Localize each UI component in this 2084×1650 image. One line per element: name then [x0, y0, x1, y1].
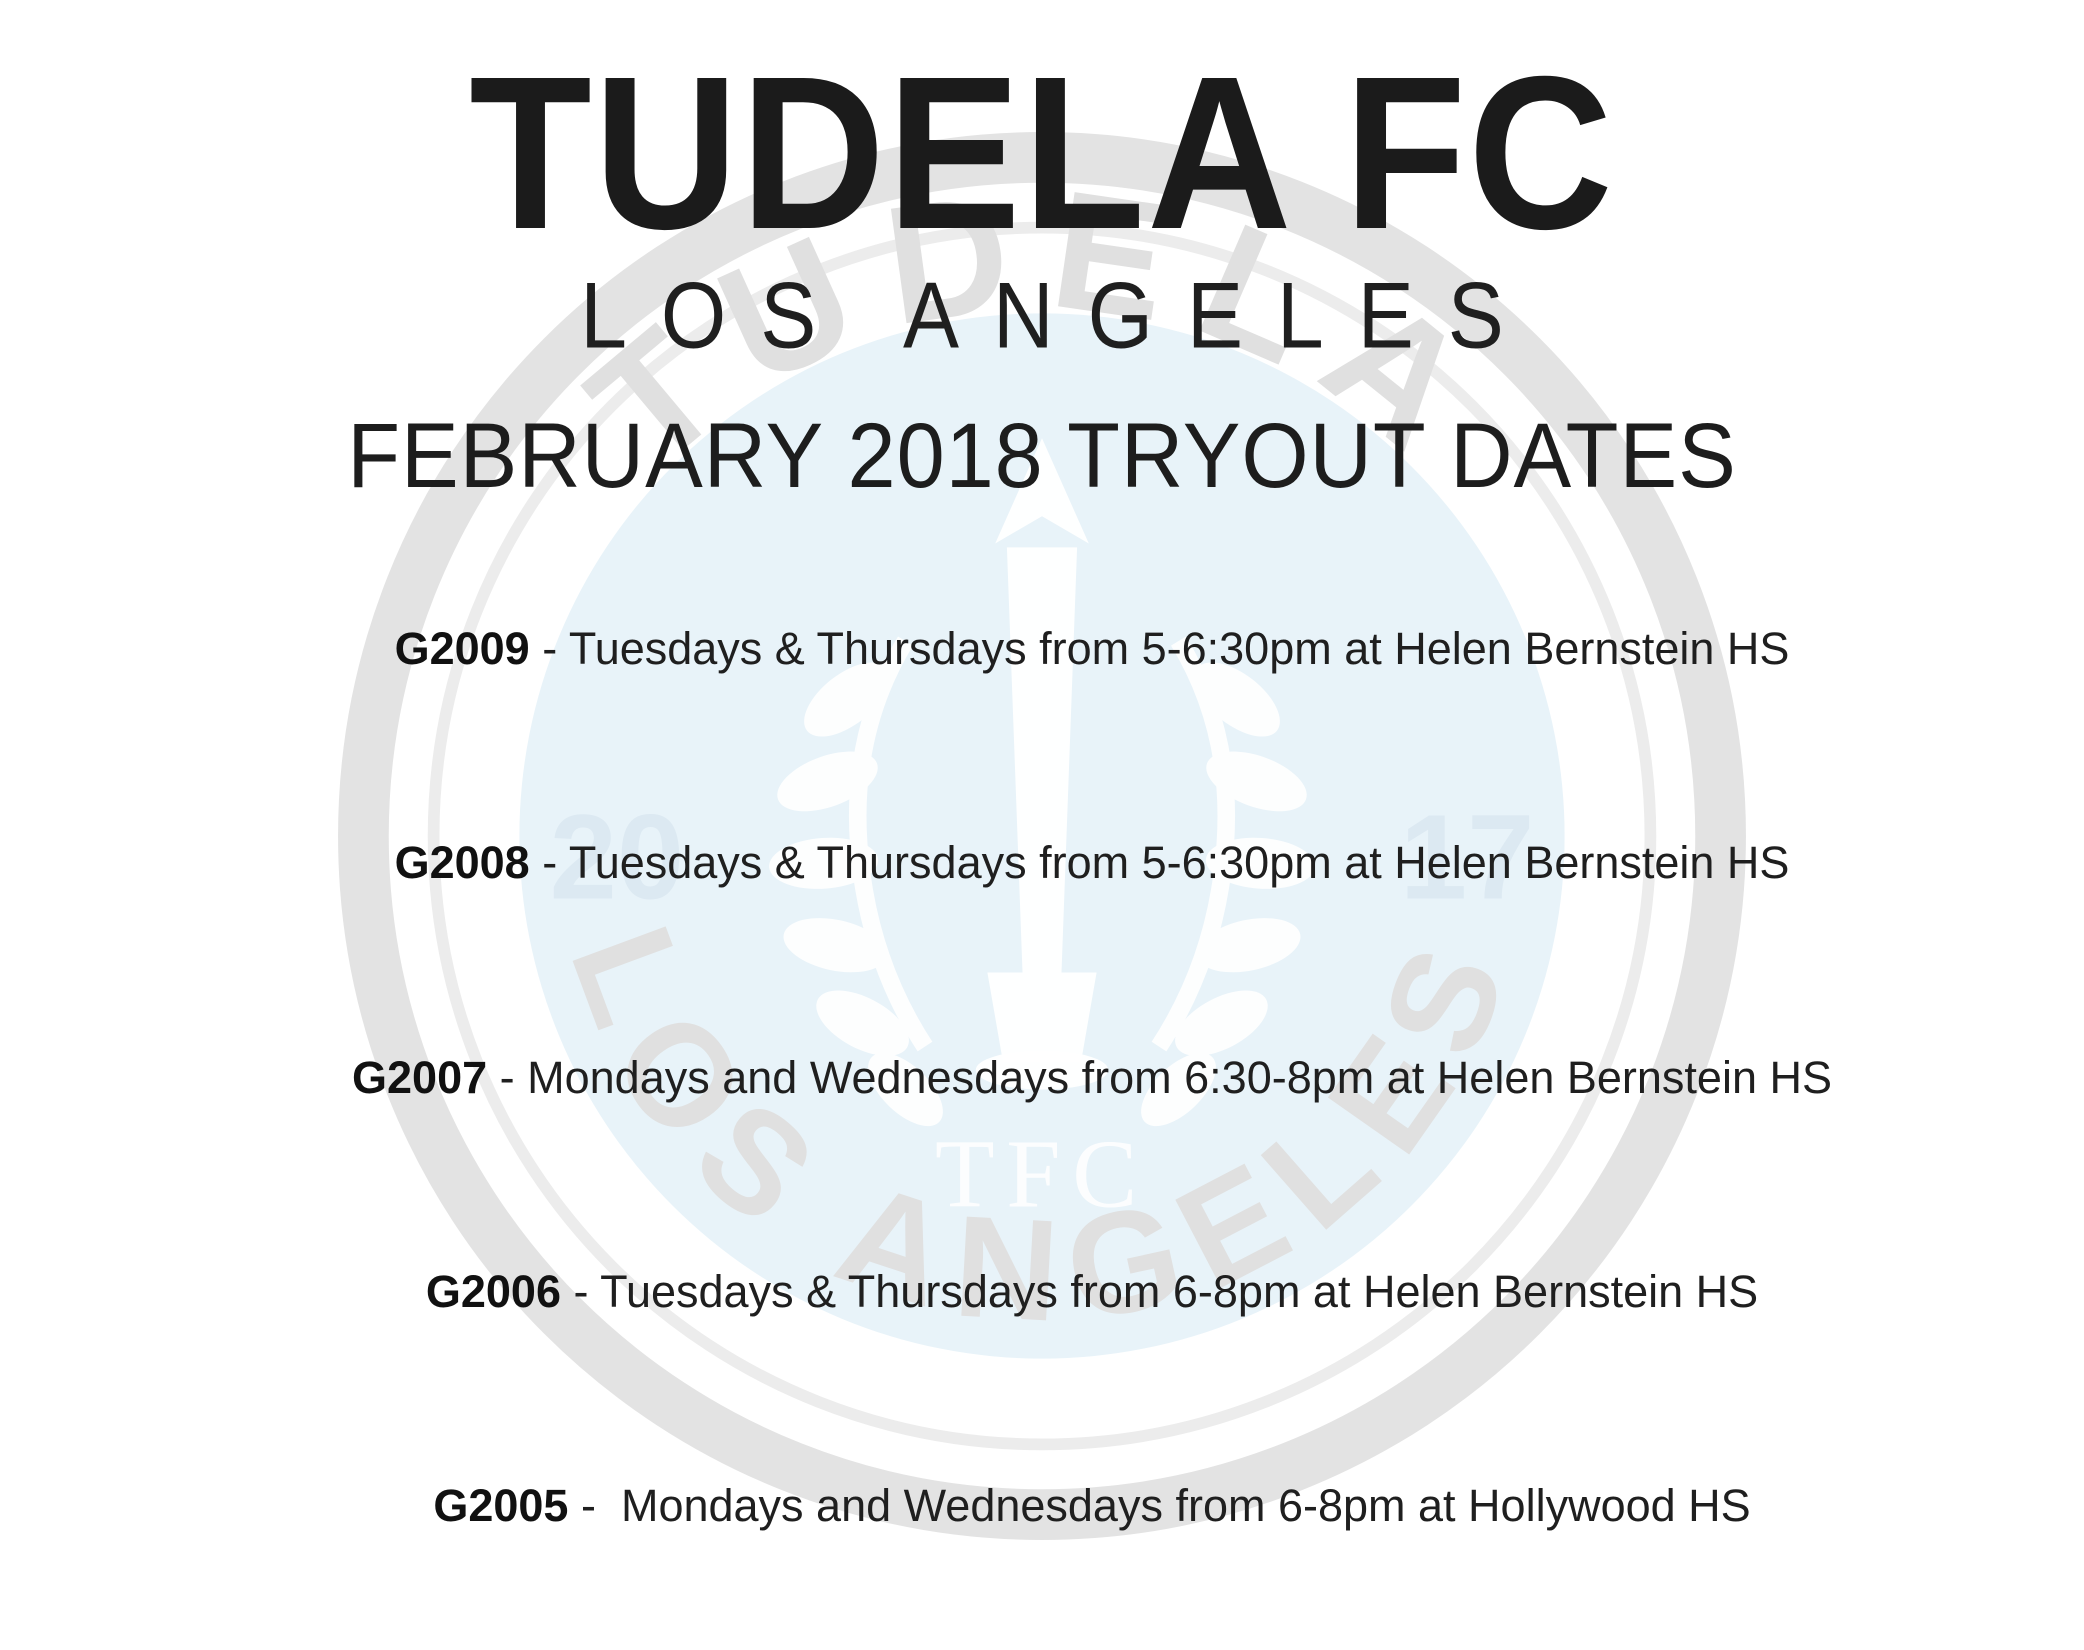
tryout-list: G2009 - Tuesdays & Thursdays from 5-6:30…	[60, 574, 2024, 1582]
tryout-age-group: G2005	[433, 1480, 568, 1531]
brand-title: TUDELA FC	[139, 0, 1946, 250]
tryout-details: - Tuesdays & Thursdays from 6-8pm at Hel…	[561, 1266, 1758, 1317]
list-item: G2006 - Tuesdays & Thursdays from 6-8pm …	[60, 1216, 2024, 1367]
list-item: G2008 - Tuesdays & Thursdays from 5-6:30…	[60, 788, 2024, 939]
list-item: G2005 - Mondays and Wednesdays from 6-8p…	[60, 1431, 2024, 1582]
flyer-content: TUDELA FC LOS ANGELES FEBRUARY 2018 TRYO…	[0, 0, 2084, 1650]
list-item: G2007 - Mondays and Wednesdays from 6:30…	[60, 1002, 2024, 1153]
page-title: FEBRUARY 2018 TRYOUT DATES	[119, 410, 1965, 502]
tryout-details: - Tuesdays & Thursdays from 5-6:30pm at …	[530, 837, 1790, 888]
tryout-age-group: G2008	[395, 837, 530, 888]
brand-subtitle: LOS ANGELES	[60, 268, 2024, 362]
tryout-age-group: G2007	[352, 1052, 487, 1103]
list-item: G2009 - Tuesdays & Thursdays from 5-6:30…	[60, 574, 2024, 725]
tryout-details: - Mondays and Wednesdays from 6-8pm at H…	[568, 1480, 1750, 1531]
flyer-canvas: TUDELA LOS ANGELES 20 17	[0, 0, 2084, 1650]
tryout-details: - Tuesdays & Thursdays from 5-6:30pm at …	[530, 623, 1790, 674]
tryout-details: - Mondays and Wednesdays from 6:30-8pm a…	[487, 1052, 1832, 1103]
tryout-age-group: G2009	[395, 623, 530, 674]
tryout-age-group: G2006	[426, 1266, 561, 1317]
